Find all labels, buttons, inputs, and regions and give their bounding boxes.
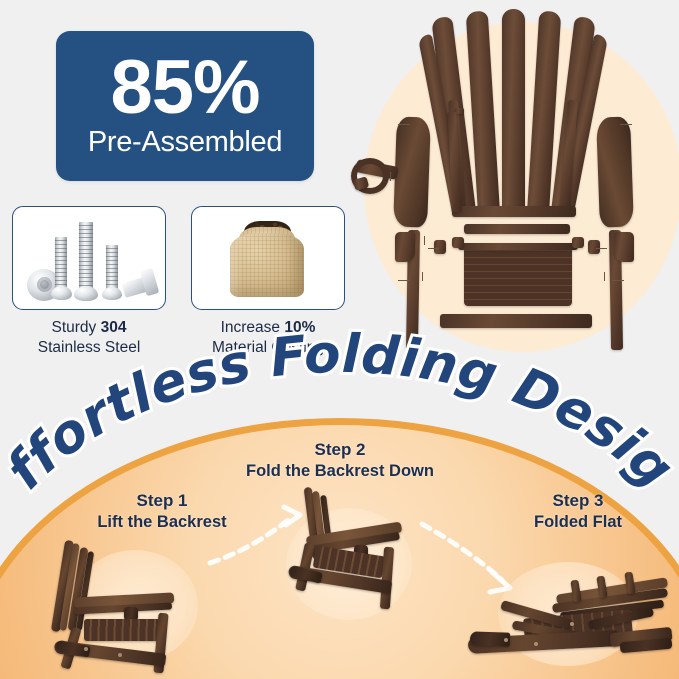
step-2-label: Step 2 Fold the Backrest Down [240, 440, 440, 481]
screws-icon-box [12, 206, 166, 310]
caption-line2-1: Stainless Steel [38, 339, 141, 356]
badge-subtitle: Pre-Assembled [88, 127, 282, 159]
step-3-number: Step 3 [488, 491, 668, 512]
feature-stainless-steel: Sturdy 304 Stainless Steel [12, 206, 166, 358]
caption-bold-1: 304 [101, 319, 127, 336]
caption-plain-1: Sturdy [52, 319, 101, 336]
step-3-chair-folded-flat [460, 552, 675, 679]
step-2-title: Fold the Backrest Down [240, 461, 440, 481]
pre-assembled-badge: 85% Pre-Assembled [56, 31, 314, 181]
step-3-label: Step 3 Folded Flat [488, 491, 668, 532]
badge-percent: 85% [110, 53, 259, 123]
section-title-arc: Effortless Folding Design [0, 368, 679, 503]
step-3-title: Folded Flat [488, 512, 668, 532]
feature-caption-1: Sturdy 304 Stainless Steel [12, 318, 166, 358]
step-1-chair-upright [32, 535, 222, 679]
step-2-chair-mid-fold [272, 485, 442, 625]
sack-icon-box [191, 206, 345, 310]
step-2-number: Step 2 [240, 440, 440, 461]
infographic-canvas: 85% Pre-Assembled [0, 0, 679, 679]
